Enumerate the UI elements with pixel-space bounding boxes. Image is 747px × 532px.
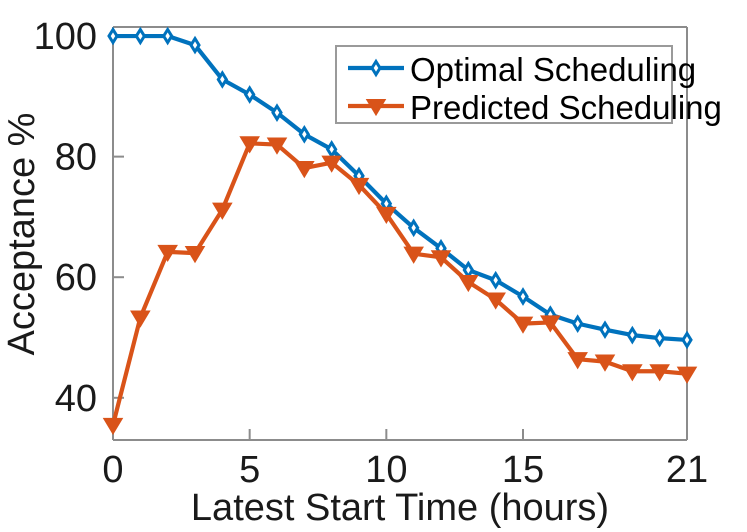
chart-legend[interactable]: Optimal SchedulingPredicted Scheduling bbox=[336, 46, 722, 126]
y-tick-label: 40 bbox=[55, 378, 97, 420]
line-chart: 406080100 05101521 Latest Start Time (ho… bbox=[0, 0, 747, 532]
data-point-marker bbox=[300, 128, 308, 141]
data-point-marker bbox=[656, 332, 664, 345]
x-tick-label: 21 bbox=[666, 449, 708, 491]
data-point-marker bbox=[601, 323, 609, 336]
legend-entry-label: Optimal Scheduling bbox=[410, 51, 696, 88]
data-point-marker bbox=[164, 30, 172, 43]
legend-diamond-marker-icon bbox=[372, 62, 380, 75]
data-point-marker bbox=[273, 106, 281, 119]
y-tick-label: 100 bbox=[34, 16, 97, 58]
data-point-marker bbox=[246, 88, 254, 101]
x-tick-label: 10 bbox=[365, 449, 407, 491]
data-point-marker bbox=[328, 143, 336, 156]
data-point-marker bbox=[464, 263, 472, 276]
data-point-marker bbox=[519, 290, 527, 303]
x-tick-label: 0 bbox=[102, 449, 123, 491]
legend-entry-label: Predicted Scheduling bbox=[410, 89, 722, 126]
x-axis-title: Latest Start Time (hours) bbox=[191, 487, 609, 529]
x-tick-label: 15 bbox=[502, 449, 544, 491]
data-point-marker bbox=[410, 221, 418, 234]
y-axis-title: Acceptance % bbox=[1, 113, 43, 356]
data-point-marker bbox=[492, 274, 500, 287]
chart-figure: 406080100 05101521 Latest Start Time (ho… bbox=[0, 0, 747, 532]
data-point-marker bbox=[109, 30, 117, 43]
data-point-marker bbox=[191, 39, 199, 52]
x-tick-label: 5 bbox=[239, 449, 260, 491]
y-tick-label: 80 bbox=[55, 137, 97, 179]
data-point-marker bbox=[136, 30, 144, 43]
y-tick-label: 60 bbox=[55, 257, 97, 299]
data-point-marker bbox=[574, 317, 582, 330]
data-point-marker bbox=[628, 329, 636, 342]
data-point-marker bbox=[218, 73, 226, 86]
data-point-marker bbox=[683, 333, 691, 346]
